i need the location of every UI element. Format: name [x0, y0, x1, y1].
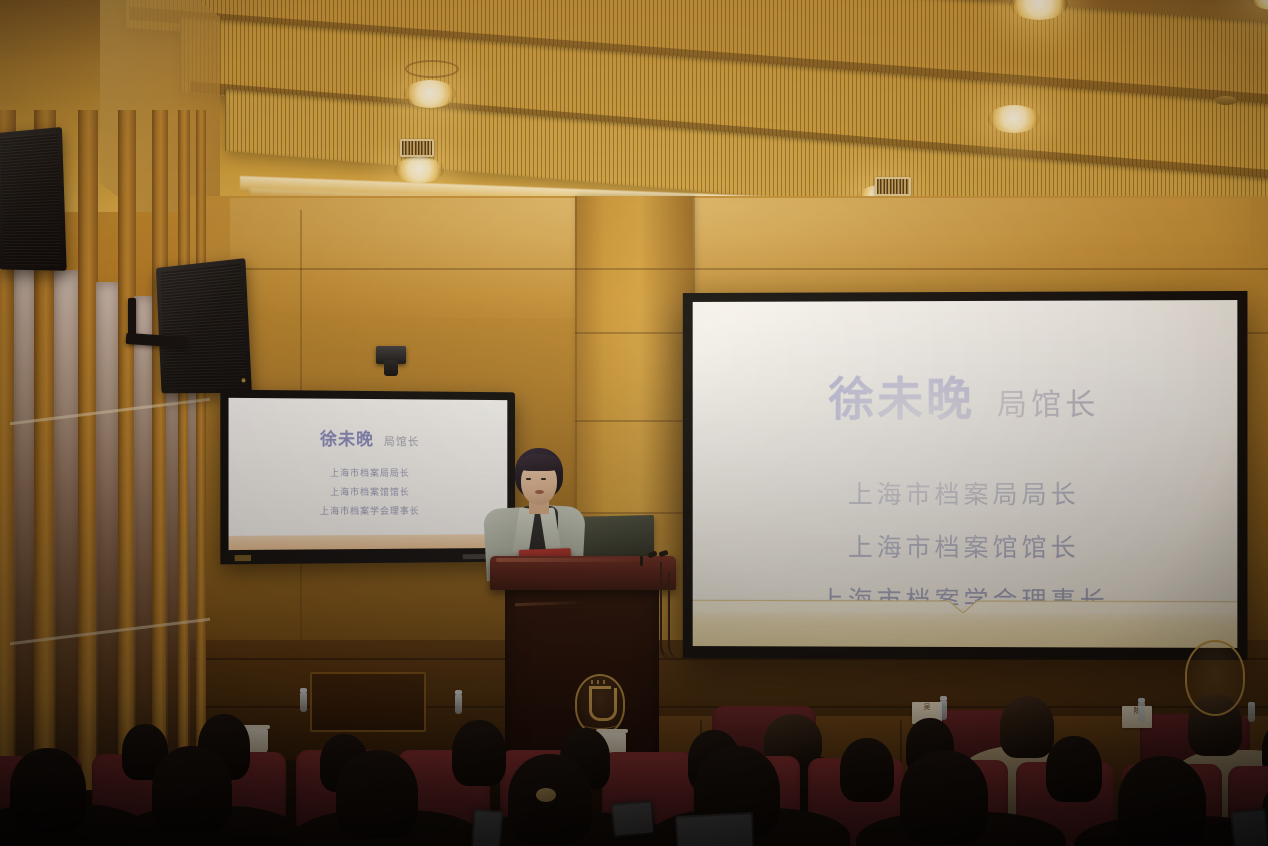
water-bottle-1 [940, 700, 947, 720]
podium-top [490, 556, 676, 590]
audience-phone-3[interactable] [470, 809, 503, 846]
slide-title-row: 徐未晚 局馆长 [828, 363, 1099, 429]
audience-phone-4[interactable] [1230, 808, 1268, 846]
audience-phone-1[interactable] [611, 800, 656, 838]
ceiling-downlight-2 [394, 157, 444, 183]
side-speaker-name: 徐未晚 [320, 425, 374, 450]
credential-line-2: 上海市档案馆馆长 [848, 528, 1080, 564]
audience-front-head-2 [152, 746, 232, 834]
credential-line-1: 上海市档案局局长 [848, 475, 1080, 511]
audience-head-8 [1046, 736, 1102, 802]
main-projection-screen[interactable]: 徐未晚 局馆长 上海市档案局局长 上海市档案馆馆长 上海市档案学会理事长 [683, 291, 1248, 660]
audience-head-lit-1 [1000, 696, 1054, 758]
audience-phone-screen-2 [677, 814, 753, 846]
presenter-fringe [517, 454, 561, 471]
speaker-role: 局馆长 [997, 380, 1099, 424]
audience-area: 吴 陈 [0, 628, 1268, 846]
water-bottle-2 [1138, 702, 1145, 722]
speaker-grill-icon [160, 264, 247, 389]
side-credential-3: 上海市档案学会理事长 [320, 504, 420, 517]
side-monitor[interactable]: 徐未晚 局馆长 上海市档案局局长 上海市档案馆馆长 上海市档案学会理事长 [220, 390, 515, 565]
side-slide-footer-curve [229, 528, 508, 539]
audience-front-head-6 [900, 750, 988, 844]
water-bottle-cap-4 [300, 688, 307, 692]
water-bottle-3 [1248, 702, 1255, 722]
slide-footer-curve-ornament [693, 592, 1238, 613]
ceiling-downlight-1 [404, 80, 456, 108]
ceiling-air-vent-1 [400, 139, 434, 157]
wall-seam-4 [575, 512, 695, 514]
presenter-eye-left [526, 478, 531, 480]
audience-front-head-7 [1118, 756, 1206, 846]
conference-hall-photo: 徐未晚 局馆长 上海市档案局局长 上海市档案馆馆长 上海市档案学会理事长 [0, 0, 1268, 846]
water-bottle-5 [455, 694, 462, 714]
audience-phone-screen-3 [473, 811, 502, 846]
audience-head-4 [452, 720, 506, 786]
wall-seam-1 [190, 268, 1268, 270]
gooseneck-microphone-stem [640, 556, 643, 566]
audience-phone-2[interactable] [675, 812, 755, 846]
water-bottle-cap-5 [455, 690, 462, 694]
water-bottle-4 [300, 692, 307, 712]
presenter-mouth [535, 490, 544, 494]
wall-speaker-left-rear [0, 127, 67, 271]
podium-top-highlight [496, 558, 646, 562]
ceiling-air-vent-2 [875, 177, 911, 196]
ceiling-downlight-4 [988, 105, 1040, 133]
ceiling-downlight-ring-1 [405, 60, 459, 78]
wall-seam-3 [575, 420, 695, 422]
side-credential-2: 上海市档案馆馆长 [330, 485, 410, 498]
main-screen-surface: 徐未晚 局馆长 上海市档案局局长 上海市档案馆馆长 上海市档案学会理事长 [693, 300, 1238, 648]
side-monitor-slide: 徐未晚 局馆长 上海市档案局局长 上海市档案馆馆长 上海市档案学会理事长 [229, 398, 508, 550]
water-bottle-cap-2 [1138, 698, 1145, 702]
speaker-grill-icon [0, 133, 62, 266]
speaker-led-icon [242, 378, 246, 382]
ceiling-camera [376, 346, 406, 364]
audience-head-7 [840, 738, 894, 802]
name-card-2: 陈 [1122, 706, 1152, 728]
name-card-2-text: 陈 [1122, 706, 1152, 716]
side-monitor-bezel [220, 548, 515, 564]
side-slide-title-row: 徐未晚 局馆长 [320, 425, 420, 450]
side-monitor-screen: 徐未晚 局馆长 上海市档案局局长 上海市档案馆馆长 上海市档案学会理事长 [229, 398, 508, 550]
presentation-slide: 徐未晚 局馆长 上海市档案局局长 上海市档案馆馆长 上海市档案学会理事长 [693, 300, 1238, 648]
smoke-detector-icon [1215, 96, 1237, 105]
side-monitor-power-badge [235, 555, 251, 561]
side-speaker-role: 局馆长 [384, 433, 420, 449]
side-credentials-list: 上海市档案局局长 上海市档案馆馆长 上海市档案学会理事长 [320, 466, 420, 517]
name-card-1-text: 吴 [912, 702, 942, 712]
audience-front-head-3 [336, 750, 418, 838]
side-credential-1: 上海市档案局局长 [330, 466, 410, 479]
tea-cup-lid-2 [596, 729, 628, 733]
wall-speaker-left-front [156, 258, 252, 393]
audience-front-head-1 [10, 748, 86, 832]
audience-hair-clip [536, 788, 556, 802]
presenter-eye-right [541, 478, 546, 480]
speaker-name: 徐未晚 [828, 363, 975, 429]
audience-phone-screen-4 [1232, 810, 1268, 846]
hall-wall-seal-icon [1185, 640, 1245, 716]
water-bottle-cap-1 [940, 696, 947, 700]
audience-phone-screen-1 [613, 802, 653, 835]
